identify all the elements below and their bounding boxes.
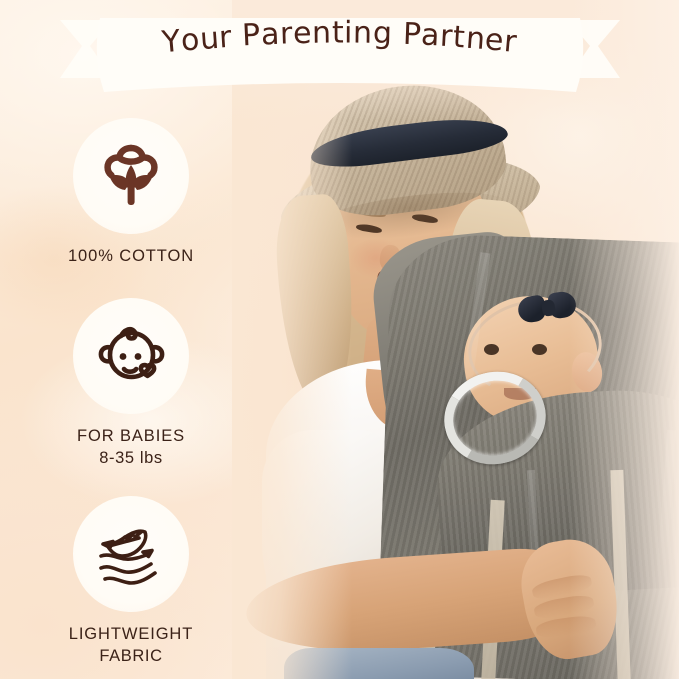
feature-badge [73,496,189,612]
cotton-boll-icon [92,137,170,215]
feature-sublabel: 8-35 lbs [16,448,246,470]
feature-label: FOR BABIES [16,426,246,448]
photo-edge-blend-right [569,0,679,679]
feature-sublabel: FABRIC [16,646,246,668]
page-title: Your Parenting Partner [0,20,679,55]
baby-face-icon [90,317,172,395]
baby-bow-knot [541,299,556,317]
feature-lightweight: LIGHTWEIGHT FABRIC [16,496,246,668]
feature-badge [73,298,189,414]
feature-cotton: 100% COTTON [16,118,246,268]
feather-fabric-icon [89,516,173,592]
lifestyle-photo [232,0,679,679]
feature-badge [73,118,189,234]
feature-label: 100% COTTON [16,246,246,268]
feature-label: LIGHTWEIGHT [16,624,246,646]
product-feature-image: Your Parenting Partner 100% COTTON [0,0,679,679]
feature-babies: FOR BABIES 8-35 lbs [16,298,246,470]
